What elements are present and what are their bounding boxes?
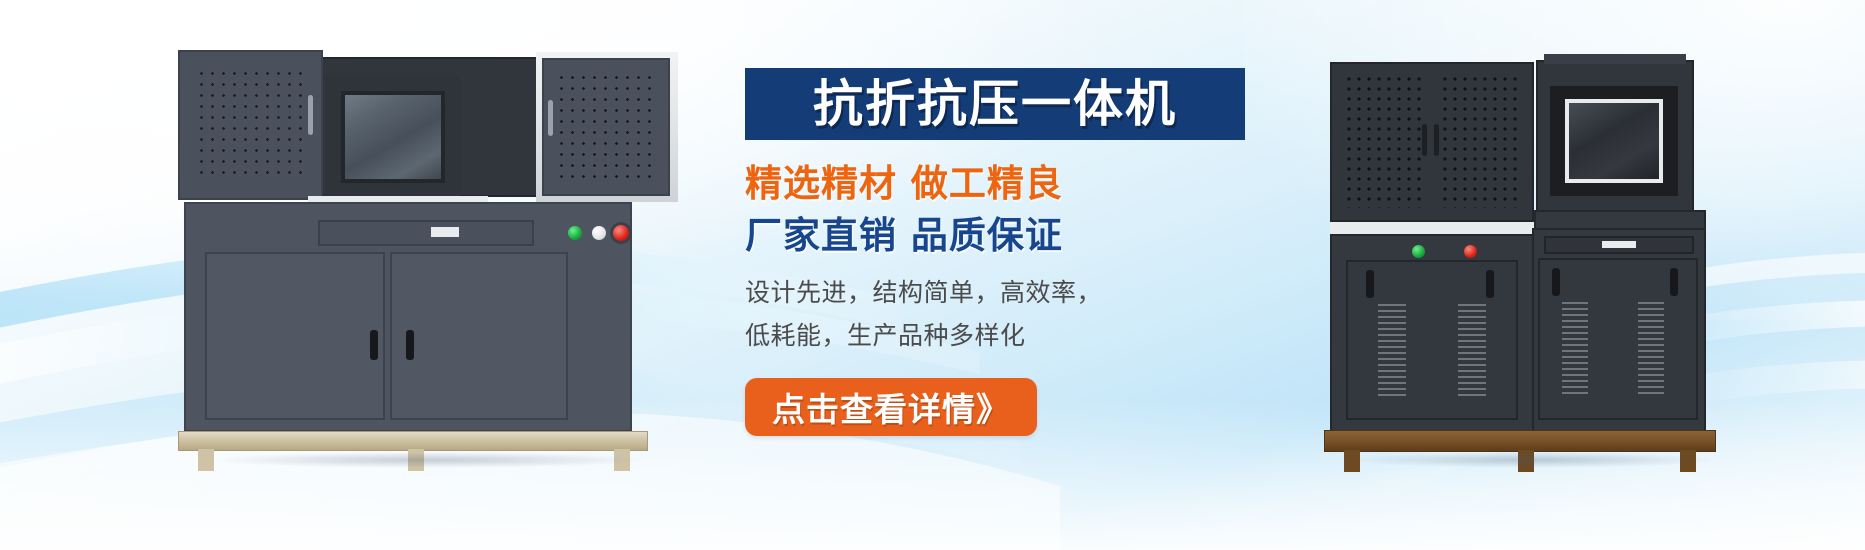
banner-title-bar: 抗折抗压一体机 xyxy=(745,68,1245,140)
right-machine-photo xyxy=(1322,42,1742,462)
description-line-2: 低耗能，生产品种多样化 xyxy=(745,316,1305,357)
slogan-primary: 精选精材 做工精良 xyxy=(745,162,1305,206)
banner-copy-column: 抗折抗压一体机 精选精材 做工精良 厂家直销 品质保证 设计先进，结构简单，高效… xyxy=(745,68,1305,498)
promo-banner: 抗折抗压一体机 精选精材 做工精良 厂家直销 品质保证 设计先进，结构简单，高效… xyxy=(0,0,1865,550)
slogan-secondary: 厂家直销 品质保证 xyxy=(745,214,1305,258)
page-title: 抗折抗压一体机 xyxy=(813,79,1177,129)
description-line-1: 设计先进，结构简单，高效率， xyxy=(745,273,1305,314)
left-machine-photo xyxy=(178,42,678,462)
view-details-button[interactable]: 点击查看详情》 xyxy=(745,378,1037,436)
